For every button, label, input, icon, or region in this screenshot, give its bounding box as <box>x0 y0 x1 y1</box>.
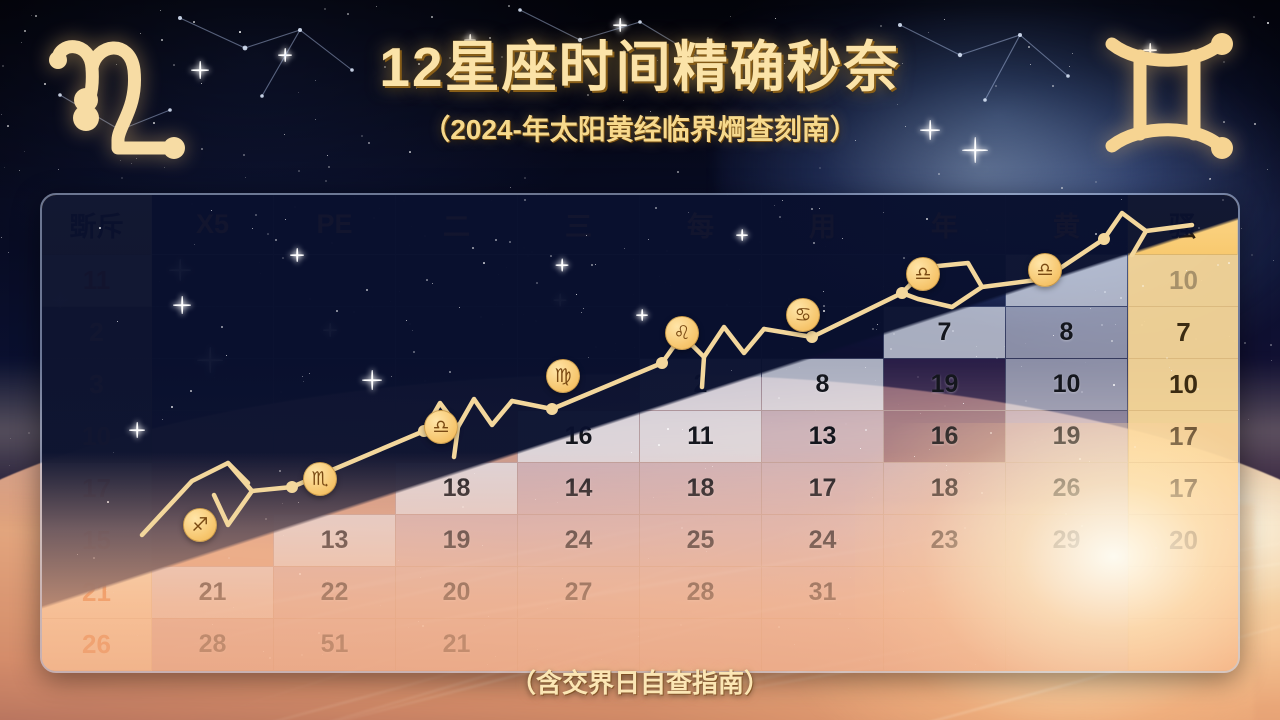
footer-caption: （含交界日自查指南） <box>0 663 1280 700</box>
row-right-label[interactable]: 17 <box>1128 463 1238 515</box>
table-cell[interactable] <box>640 255 762 307</box>
table-cell[interactable]: 31 <box>762 567 884 619</box>
table-cell[interactable] <box>884 567 1006 619</box>
table-cell[interactable]: 17 <box>762 463 884 515</box>
table-cell[interactable]: 24 <box>762 515 884 567</box>
table-cell[interactable]: 10 <box>1006 359 1128 411</box>
row-right-label[interactable]: 10 <box>1128 255 1238 307</box>
table-cell[interactable]: 11 <box>640 411 762 463</box>
table-cell[interactable] <box>762 255 884 307</box>
table-cell[interactable]: 28 <box>640 567 762 619</box>
table-cell[interactable]: 7 <box>884 307 1006 359</box>
table-cell[interactable]: 16 <box>518 411 640 463</box>
table-cell[interactable] <box>396 411 518 463</box>
table-cell[interactable] <box>152 463 274 515</box>
table-cell[interactable] <box>152 307 274 359</box>
badge-sagittarius[interactable]: ♐ <box>183 508 217 542</box>
table-cell[interactable] <box>274 359 396 411</box>
capricorn-glyph <box>34 22 194 172</box>
row-right-label[interactable] <box>1128 567 1238 619</box>
header-label: 二 <box>443 205 470 244</box>
table-cell[interactable]: 19 <box>396 515 518 567</box>
table-cell[interactable] <box>518 255 640 307</box>
header-label: 用 <box>809 205 836 244</box>
table-cell[interactable] <box>274 307 396 359</box>
table-cell[interactable] <box>884 255 1006 307</box>
header-label: 黄 <box>1053 205 1080 244</box>
row-right-label[interactable]: 20 <box>1128 515 1238 567</box>
row-left-label[interactable]: 2 <box>42 307 152 359</box>
table-header-2[interactable]: PE <box>274 195 396 255</box>
table-cell[interactable]: 24 <box>518 515 640 567</box>
table-cell[interactable]: 14 <box>518 463 640 515</box>
table-cell[interactable] <box>518 307 640 359</box>
badge-virgo[interactable]: ♍ <box>546 359 580 393</box>
row-left-label[interactable]: 17 <box>42 463 152 515</box>
table-cell[interactable] <box>762 307 884 359</box>
table-cell[interactable] <box>274 411 396 463</box>
table-cell[interactable]: 25 <box>640 515 762 567</box>
header-label: X5 <box>196 209 229 240</box>
table-cell[interactable]: 13 <box>274 515 396 567</box>
gemini-glyph <box>1094 22 1244 172</box>
row-right-label[interactable]: 17 <box>1128 411 1238 463</box>
row-right-label[interactable]: 7 <box>1128 307 1238 359</box>
table-cell[interactable]: 8 <box>762 359 884 411</box>
table-cell[interactable]: 27 <box>518 567 640 619</box>
table-header-9[interactable]: 骚 <box>1128 195 1238 255</box>
header-label: 三 <box>565 205 592 244</box>
table-cell[interactable]: 18 <box>884 463 1006 515</box>
row-left-label[interactable]: 21 <box>42 567 152 619</box>
header-label: 斲斥 <box>70 205 124 244</box>
row-right-label[interactable]: 10 <box>1128 359 1238 411</box>
header-label: 骚 <box>1169 205 1196 244</box>
header-label: 每 <box>687 205 714 244</box>
badge-taurus[interactable]: ♎ <box>1028 253 1062 287</box>
table-header-0[interactable]: 斲斥 <box>42 195 152 255</box>
row-left-label[interactable]: 11 <box>42 255 152 307</box>
table-cell[interactable]: 23 <box>884 515 1006 567</box>
badge-gemini-sm[interactable]: ♎ <box>906 257 940 291</box>
zodiac-date-table[interactable]: 斲斥X5PE二三每用年黄骚111027873281910101016111316… <box>40 193 1240 673</box>
table-cell[interactable] <box>1006 567 1128 619</box>
table-cell[interactable]: 21 <box>152 567 274 619</box>
row-left-label[interactable]: 10 <box>42 411 152 463</box>
table-cell[interactable]: 16 <box>884 411 1006 463</box>
table-cell[interactable] <box>152 411 274 463</box>
table-cell[interactable]: 18 <box>396 463 518 515</box>
table-cell[interactable]: 29 <box>1006 515 1128 567</box>
table-cell[interactable] <box>396 255 518 307</box>
table-cell[interactable]: 2 <box>640 359 762 411</box>
table-cell[interactable] <box>518 359 640 411</box>
table-cell[interactable]: 13 <box>762 411 884 463</box>
poster-canvas: 12星座时间精确秒奈 （2024-年太阳黄经临界焵查刻南） <box>0 0 1280 720</box>
table-header-1[interactable]: X5 <box>152 195 274 255</box>
table-cell[interactable] <box>640 307 762 359</box>
table-cell[interactable]: 26 <box>1006 463 1128 515</box>
table-cell[interactable] <box>396 359 518 411</box>
table-header-3[interactable]: 二 <box>396 195 518 255</box>
table-cell[interactable]: 19 <box>884 359 1006 411</box>
badge-scorpio[interactable]: ♏ <box>303 462 337 496</box>
table-header-4[interactable]: 三 <box>518 195 640 255</box>
table-cell[interactable] <box>274 255 396 307</box>
row-left-label[interactable]: 3 <box>42 359 152 411</box>
header-label: 年 <box>931 205 958 244</box>
table-cell[interactable]: 8 <box>1006 307 1128 359</box>
badge-leo[interactable]: ♌ <box>665 316 699 350</box>
badge-cancer[interactable]: ♋ <box>786 298 820 332</box>
table-cell[interactable] <box>152 255 274 307</box>
row-left-label[interactable]: 15 <box>42 515 152 567</box>
table-header-5[interactable]: 每 <box>640 195 762 255</box>
table-header-6[interactable]: 用 <box>762 195 884 255</box>
table-cell[interactable] <box>396 307 518 359</box>
table-cell[interactable]: 19 <box>1006 411 1128 463</box>
badge-libra[interactable]: ♎ <box>424 410 458 444</box>
table-cell[interactable]: 22 <box>274 567 396 619</box>
table-cell[interactable]: 18 <box>640 463 762 515</box>
table-cell[interactable] <box>1006 255 1128 307</box>
header-label: PE <box>316 209 352 240</box>
table-cell[interactable]: 20 <box>396 567 518 619</box>
table-cell[interactable] <box>152 359 274 411</box>
table-header-7[interactable]: 年 <box>884 195 1006 255</box>
table-header-8[interactable]: 黄 <box>1006 195 1128 255</box>
